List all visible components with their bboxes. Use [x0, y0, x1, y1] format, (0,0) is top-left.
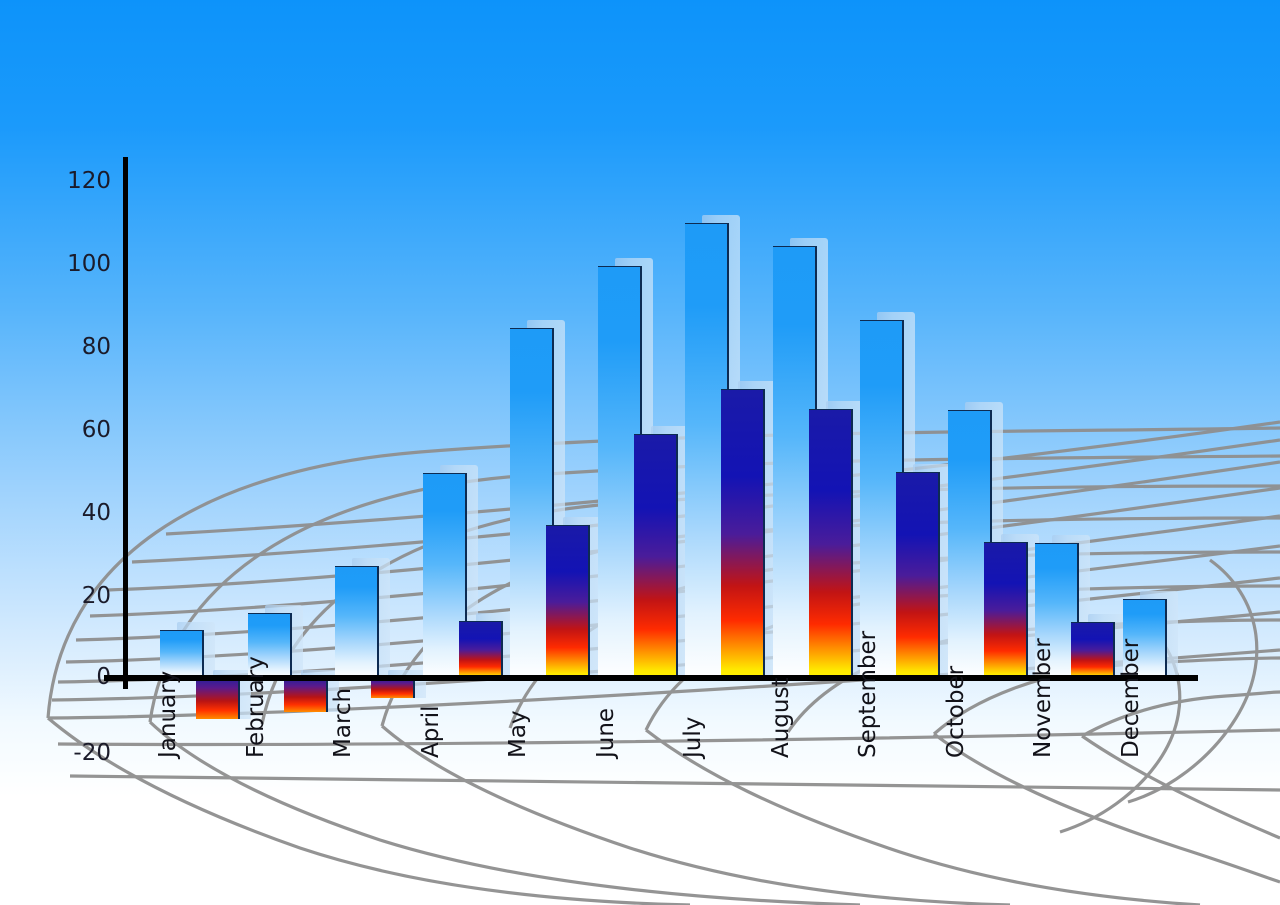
plot-area: 120 100 80 60 40 20 0 -20 JanuaryFebruar…	[0, 0, 1280, 905]
x-label-october: October	[945, 666, 968, 758]
x-label-february: February	[245, 656, 268, 758]
bar-september-series2[interactable]	[896, 472, 940, 678]
x-label-march: March	[332, 688, 355, 758]
x-label-april: April	[420, 705, 443, 758]
bar-october-series2[interactable]	[984, 542, 1028, 678]
y-tick-label-40: 40	[55, 502, 111, 525]
x-label-november: November	[1032, 638, 1055, 758]
bar-june-series2[interactable]	[634, 434, 678, 678]
bar-march-series1[interactable]	[335, 566, 379, 678]
y-axis-line	[123, 157, 128, 689]
y-tick-label-80: 80	[55, 336, 111, 359]
y-tick-label-60: 60	[55, 419, 111, 442]
x-label-december: December	[1120, 639, 1143, 758]
x-label-january: January	[157, 671, 180, 758]
chart-canvas: 120 100 80 60 40 20 0 -20 JanuaryFebruar…	[0, 0, 1280, 905]
bar-february-series2[interactable]	[284, 678, 328, 712]
bar-january-series2[interactable]	[196, 678, 240, 719]
y-tick-label-20: 20	[55, 585, 111, 608]
x-label-may: May	[507, 710, 530, 758]
y-tick-label-100: 100	[55, 253, 111, 276]
y-tick-label-120: 120	[55, 170, 111, 193]
bar-april-series2[interactable]	[459, 621, 503, 678]
x-label-june: June	[595, 708, 618, 758]
bar-july-series2[interactable]	[721, 389, 765, 678]
y-tick-label-0: 0	[55, 666, 111, 689]
y-tick-label-neg20: -20	[45, 742, 111, 765]
x-label-july: July	[682, 717, 705, 758]
x-label-august: August	[770, 678, 793, 759]
bar-august-series2[interactable]	[809, 409, 853, 678]
bar-november-series2[interactable]	[1071, 622, 1115, 678]
x-label-september: September	[857, 631, 880, 758]
bar-may-series2[interactable]	[546, 525, 590, 678]
